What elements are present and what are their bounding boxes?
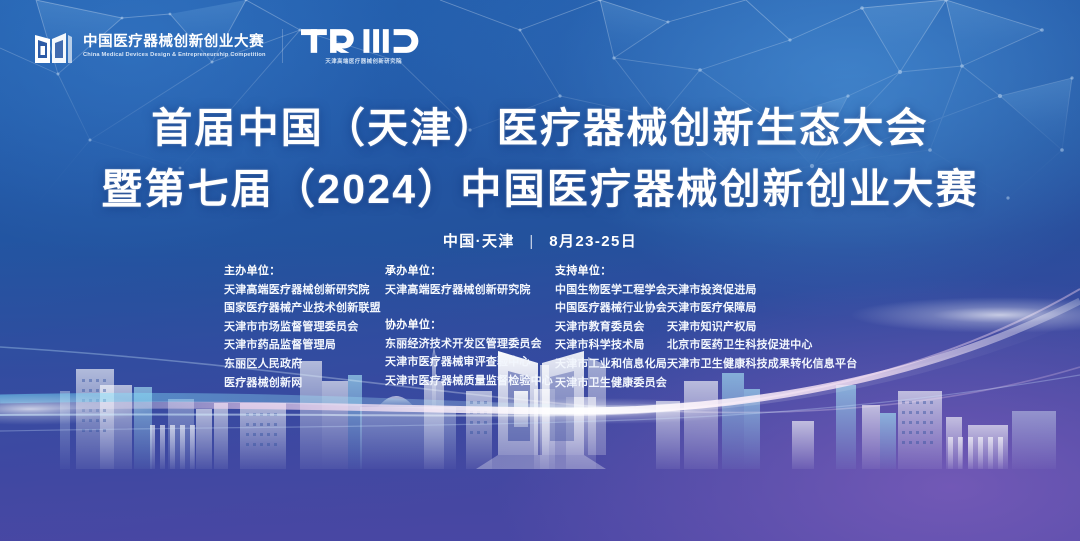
triid-wordmark-icon [301,27,426,55]
institute-name-cn: 天津高端医疗器械创新研究院 [325,57,402,65]
competition-name-cn: 中国医疗器械创新创业大赛 [83,34,264,50]
organizer-column-4: 天津市投资促进局 天津市医疗保障局 天津市知识产权局 北京市医药卫生科技促进中心… [667,262,857,374]
organizer-heading: 主办单位： [224,262,385,281]
organizer-block: 支持单位： 中国生物医学工程学会 中国医疗器械行业协会 天津市教育委员会 天津市… [555,262,667,392]
organizer-item: 北京市医药卫生科技促进中心 [667,336,857,355]
institute-logo[interactable]: 天津高端医疗器械创新研究院 [301,27,426,65]
organizer-item: 东丽经济技术开发区管理委员会 [385,335,555,354]
event-dates: 8月23-25日 [549,233,637,250]
organizer-heading: 承办单位： [385,262,555,281]
event-location: 中国·天津 [443,233,515,250]
organizer-heading-spacer [667,262,857,281]
organizer-item: 天津市教育委员会 [555,318,667,337]
title-line-1: 首届中国（天津）医疗器械创新生态大会 [0,98,1080,159]
banner-header: 中国医疗器械创新创业大赛 China Medical Devices Desig… [32,25,426,67]
organizer-column-2: 承办单位： 天津高端医疗器械创新研究院 协办单位： 东丽经济技术开发区管理委员会… [385,262,555,391]
event-meta: 中国·天津 | 8月23-25日 [0,230,1080,251]
page-title: 首届中国（天津）医疗器械创新生态大会 暨第七届（2024）中国医疗器械创新创业大… [0,98,1080,219]
organizer-block: 天津市投资促进局 天津市医疗保障局 天津市知识产权局 北京市医药卫生科技促进中心… [667,262,857,374]
organizer-item: 天津市药品监督管理局 [224,336,385,355]
header-divider [282,29,283,63]
organizer-item: 中国生物医学工程学会 [555,281,667,300]
organizer-item: 国家医疗器械产业技术创新联盟 [224,299,385,318]
organizer-item: 天津市市场监督管理委员会 [224,318,385,337]
organizer-item: 天津高端医疗器械创新研究院 [224,281,385,300]
organizer-block: 协办单位： 东丽经济技术开发区管理委员会 天津市医疗器械审评查验中心 天津市医疗… [385,316,555,390]
organizer-item: 天津市知识产权局 [667,318,857,337]
organizer-column-1: 主办单位： 天津高端医疗器械创新研究院 国家医疗器械产业技术创新联盟 天津市市场… [224,262,385,392]
organizer-item: 天津市医疗保障局 [667,299,857,318]
organizer-block: 主办单位： 天津高端医疗器械创新研究院 国家医疗器械产业技术创新联盟 天津市市场… [224,262,385,392]
competition-logo-text: 中国医疗器械创新创业大赛 China Medical Devices Desig… [83,34,264,57]
organizer-item: 天津市医疗器械审评查验中心 [385,353,555,372]
organizer-item: 天津市科学技术局 [555,336,667,355]
organizer-heading: 协办单位： [385,316,555,335]
organizer-column-3: 支持单位： 中国生物医学工程学会 中国医疗器械行业协会 天津市教育委员会 天津市… [555,262,667,392]
organizer-item: 医疗器械创新网 [224,374,385,393]
competition-logo[interactable]: 中国医疗器械创新创业大赛 China Medical Devices Desig… [32,25,264,67]
organizer-item: 天津市卫生健康委员会 [555,374,667,393]
organizer-list: 主办单位： 天津高端医疗器械创新研究院 国家医疗器械产业技术创新联盟 天津市市场… [224,262,857,392]
conference-banner: 中国医疗器械创新创业大赛 China Medical Devices Desig… [0,0,1080,541]
organizer-item: 天津市卫生健康科技成果转化信息平台 [667,355,857,374]
organizer-item: 天津市工业和信息化局 [555,355,667,374]
organizer-item: 天津高端医疗器械创新研究院 [385,281,555,300]
organizer-item: 中国医疗器械行业协会 [555,299,667,318]
organizer-block: 承办单位： 天津高端医疗器械创新研究院 [385,262,555,299]
competition-name-en: China Medical Devices Design & Entrepren… [83,52,268,58]
title-line-2: 暨第七届（2024）中国医疗器械创新创业大赛 [0,159,1080,220]
organizer-item: 天津市医疗器械质量监督检验中心 [385,372,555,391]
meta-separator: | [529,233,534,250]
organizer-item: 东丽区人民政府 [224,355,385,374]
open-door-book-logo-icon [32,25,74,67]
organizer-heading: 支持单位： [555,262,667,281]
organizer-item: 天津市投资促进局 [667,281,857,300]
